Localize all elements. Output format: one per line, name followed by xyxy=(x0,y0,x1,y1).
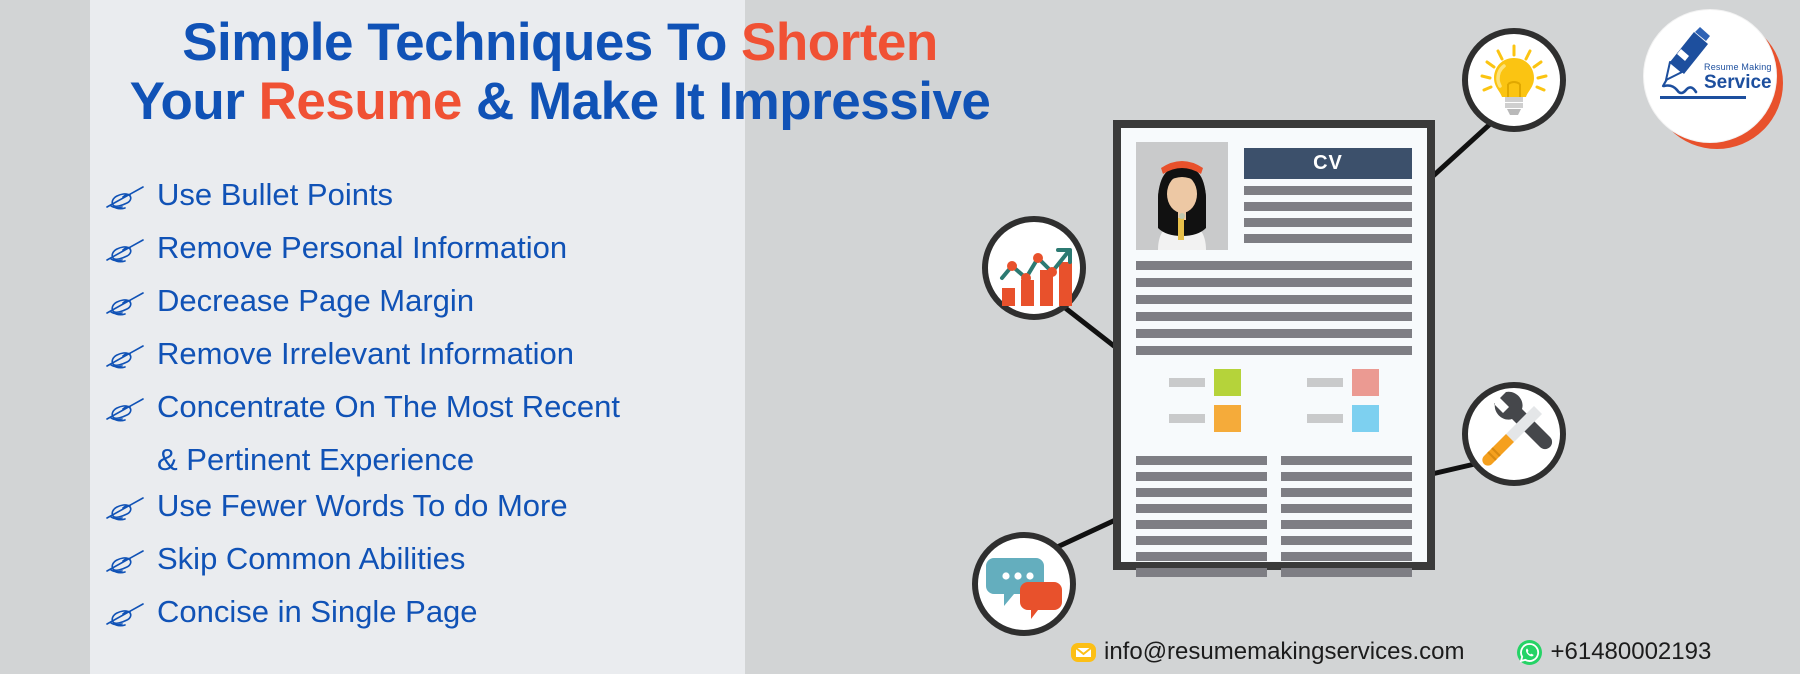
cv-text-line xyxy=(1136,261,1412,270)
writing-hand-icon xyxy=(103,234,155,268)
cv-chip-row xyxy=(1274,369,1412,396)
list-item-label: Concentrate On The Most Recent xyxy=(155,389,620,425)
cv-text-line xyxy=(1136,536,1267,545)
cv-text-line xyxy=(1136,278,1412,287)
growth-chart-badge xyxy=(982,216,1086,320)
tools-icon xyxy=(1468,388,1560,480)
cv-text-line xyxy=(1244,186,1412,195)
cv-text-line xyxy=(1136,552,1267,561)
list-item: Decrease Page Margin xyxy=(103,283,743,336)
writing-hand-icon xyxy=(103,393,155,427)
cv-text-line xyxy=(1136,568,1267,577)
cv-text-line xyxy=(1281,552,1412,561)
cv-document: CV xyxy=(1113,120,1435,570)
logo-main-text: Service xyxy=(1704,72,1772,94)
writing-hand-icon xyxy=(103,492,155,526)
list-item-label: Concise in Single Page xyxy=(155,594,478,630)
list-item: Concentrate On The Most Recent xyxy=(103,389,743,442)
cv-chip-bar xyxy=(1307,414,1343,423)
list-item: Concise in Single Page xyxy=(103,594,743,647)
cv-chip-row xyxy=(1136,405,1274,432)
banner-root: Simple Techniques To Shorten Your Resume… xyxy=(0,0,1800,674)
cv-text-line xyxy=(1244,218,1412,227)
growth-chart-icon xyxy=(988,222,1080,314)
cv-page: CV xyxy=(1121,128,1427,562)
contact-bar: info@resumemakingservices.com +614800021… xyxy=(1070,638,1711,666)
headline-part-2a: Your xyxy=(130,72,259,131)
cv-text-line xyxy=(1244,234,1412,243)
logo-disc: Resume Making Service xyxy=(1644,10,1776,142)
headline-line2: Your Resume & Make It Impressive xyxy=(0,73,1120,130)
cv-chip-row xyxy=(1136,369,1274,396)
list-item-label: Use Bullet Points xyxy=(155,177,393,213)
cv-chip-row xyxy=(1274,405,1412,432)
list-item-label: Skip Common Abilities xyxy=(155,541,465,577)
cv-chip-bar xyxy=(1169,414,1205,423)
envelope-icon xyxy=(1070,639,1097,666)
cv-chip-column-left xyxy=(1136,369,1274,441)
cv-text-line xyxy=(1281,536,1412,545)
list-item-continuation: & Pertinent Experience xyxy=(103,442,743,488)
writing-hand-icon xyxy=(103,340,155,374)
list-item: Remove Irrelevant Information xyxy=(103,336,743,389)
list-item: Use Bullet Points xyxy=(103,177,743,230)
cv-chip-column-right xyxy=(1274,369,1412,441)
chat-bubbles-icon xyxy=(978,538,1070,630)
writing-hand-icon xyxy=(103,181,155,215)
writing-hand-icon xyxy=(103,545,155,579)
cv-text-line xyxy=(1281,456,1412,465)
phone-number: +61480002193 xyxy=(1550,638,1711,666)
email-contact[interactable]: info@resumemakingservices.com xyxy=(1070,638,1464,666)
cv-column-left xyxy=(1136,449,1267,577)
cv-text-line xyxy=(1136,456,1267,465)
cv-text-line xyxy=(1136,504,1267,513)
brand-logo[interactable]: Resume Making Service xyxy=(1644,10,1786,152)
cv-text-line xyxy=(1136,329,1412,338)
cv-chip-bar xyxy=(1307,378,1343,387)
list-item: Skip Common Abilities xyxy=(103,541,743,594)
cv-text-line xyxy=(1281,520,1412,529)
list-item-label: Use Fewer Words To do More xyxy=(155,488,568,524)
chip-green xyxy=(1214,369,1241,396)
cv-text-line xyxy=(1281,504,1412,513)
email-address: info@resumemakingservices.com xyxy=(1104,638,1464,666)
phone-contact[interactable]: +61480002193 xyxy=(1516,638,1711,666)
cv-text-line xyxy=(1136,520,1267,529)
cv-text-line xyxy=(1244,202,1412,211)
lightbulb-icon xyxy=(1468,34,1560,126)
tips-list: Use Bullet Points Remove Personal Inform… xyxy=(103,177,743,647)
headline-part-2b: Resume xyxy=(259,72,462,131)
list-item: Remove Personal Information xyxy=(103,230,743,283)
cv-text-line xyxy=(1136,472,1267,481)
headline-part-2c: & Make It Impressive xyxy=(462,72,991,131)
cv-column-right xyxy=(1281,449,1412,577)
cv-text-line xyxy=(1136,295,1412,304)
cv-title: CV xyxy=(1244,148,1412,179)
person-avatar-icon xyxy=(1136,142,1228,250)
cv-text-line xyxy=(1281,568,1412,577)
cv-text-line xyxy=(1136,488,1267,497)
writing-hand-icon xyxy=(103,287,155,321)
tools-badge xyxy=(1462,382,1566,486)
list-item-label: Remove Irrelevant Information xyxy=(155,336,574,372)
cv-chip-bar xyxy=(1169,378,1205,387)
whatsapp-icon xyxy=(1516,639,1543,666)
cv-text-line xyxy=(1136,346,1412,355)
cv-title-block: CV xyxy=(1244,142,1412,250)
list-item: Use Fewer Words To do More xyxy=(103,488,743,541)
cv-summary-lines xyxy=(1136,261,1412,355)
cv-header: CV xyxy=(1136,142,1412,250)
headline-part-1b: Shorten xyxy=(741,13,938,72)
chip-blue xyxy=(1352,405,1379,432)
cv-body-columns xyxy=(1136,449,1412,577)
headline-line1: Simple Techniques To Shorten xyxy=(182,13,938,72)
cv-text-line xyxy=(1281,488,1412,497)
cv-text-line xyxy=(1281,472,1412,481)
page-title: Simple Techniques To Shorten Your Resume… xyxy=(0,14,1120,130)
writing-hand-icon xyxy=(103,598,155,632)
headline-part-1a: Simple Techniques To xyxy=(182,13,741,72)
chat-bubbles-badge xyxy=(972,532,1076,636)
lightbulb-badge xyxy=(1462,28,1566,132)
chip-orange xyxy=(1214,405,1241,432)
cv-text-line xyxy=(1136,312,1412,321)
list-item-label: Decrease Page Margin xyxy=(155,283,474,319)
chip-salmon xyxy=(1352,369,1379,396)
cv-skill-chips xyxy=(1136,369,1412,441)
list-item-label: Remove Personal Information xyxy=(155,230,567,266)
logo-top-text: Resume Making xyxy=(1704,62,1772,72)
